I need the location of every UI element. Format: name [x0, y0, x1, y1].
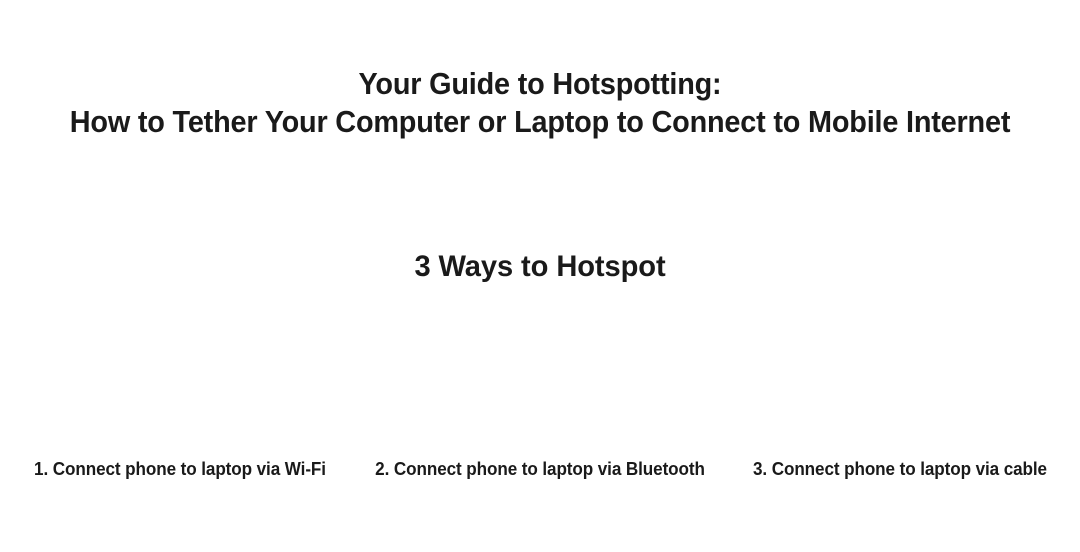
phone-to-laptop-wifi-illustration [0, 300, 360, 458]
step-caption-3: 3. Connect phone to laptop via cable [729, 458, 1071, 515]
page-title-line-1: Your Guide to Hotspotting: [38, 65, 1042, 103]
phone-to-laptop-bluetooth-illustration [360, 300, 720, 458]
section-heading: 3 Ways to Hotspot [16, 248, 1064, 286]
step-caption-2: 2. Connect phone to laptop via Bluetooth [369, 458, 711, 515]
page-title-line-2: How to Tether Your Computer or Laptop to… [38, 103, 1042, 141]
step-caption-1: 1. Connect phone to laptop via Wi-Fi [9, 458, 351, 515]
article-page: Your Guide to Hotspotting: How to Tether… [0, 0, 1080, 552]
step-item-1: 1. Connect phone to laptop via Wi-Fi [0, 300, 360, 515]
steps-row: 1. Connect phone to laptop via Wi-Fi 2. … [0, 300, 1080, 515]
step-item-3: 3. Connect phone to laptop via cable [720, 300, 1080, 515]
step-item-2: 2. Connect phone to laptop via Bluetooth [360, 300, 720, 515]
phone-to-laptop-cable-illustration [720, 300, 1080, 458]
page-title: Your Guide to Hotspotting: How to Tether… [38, 65, 1042, 141]
